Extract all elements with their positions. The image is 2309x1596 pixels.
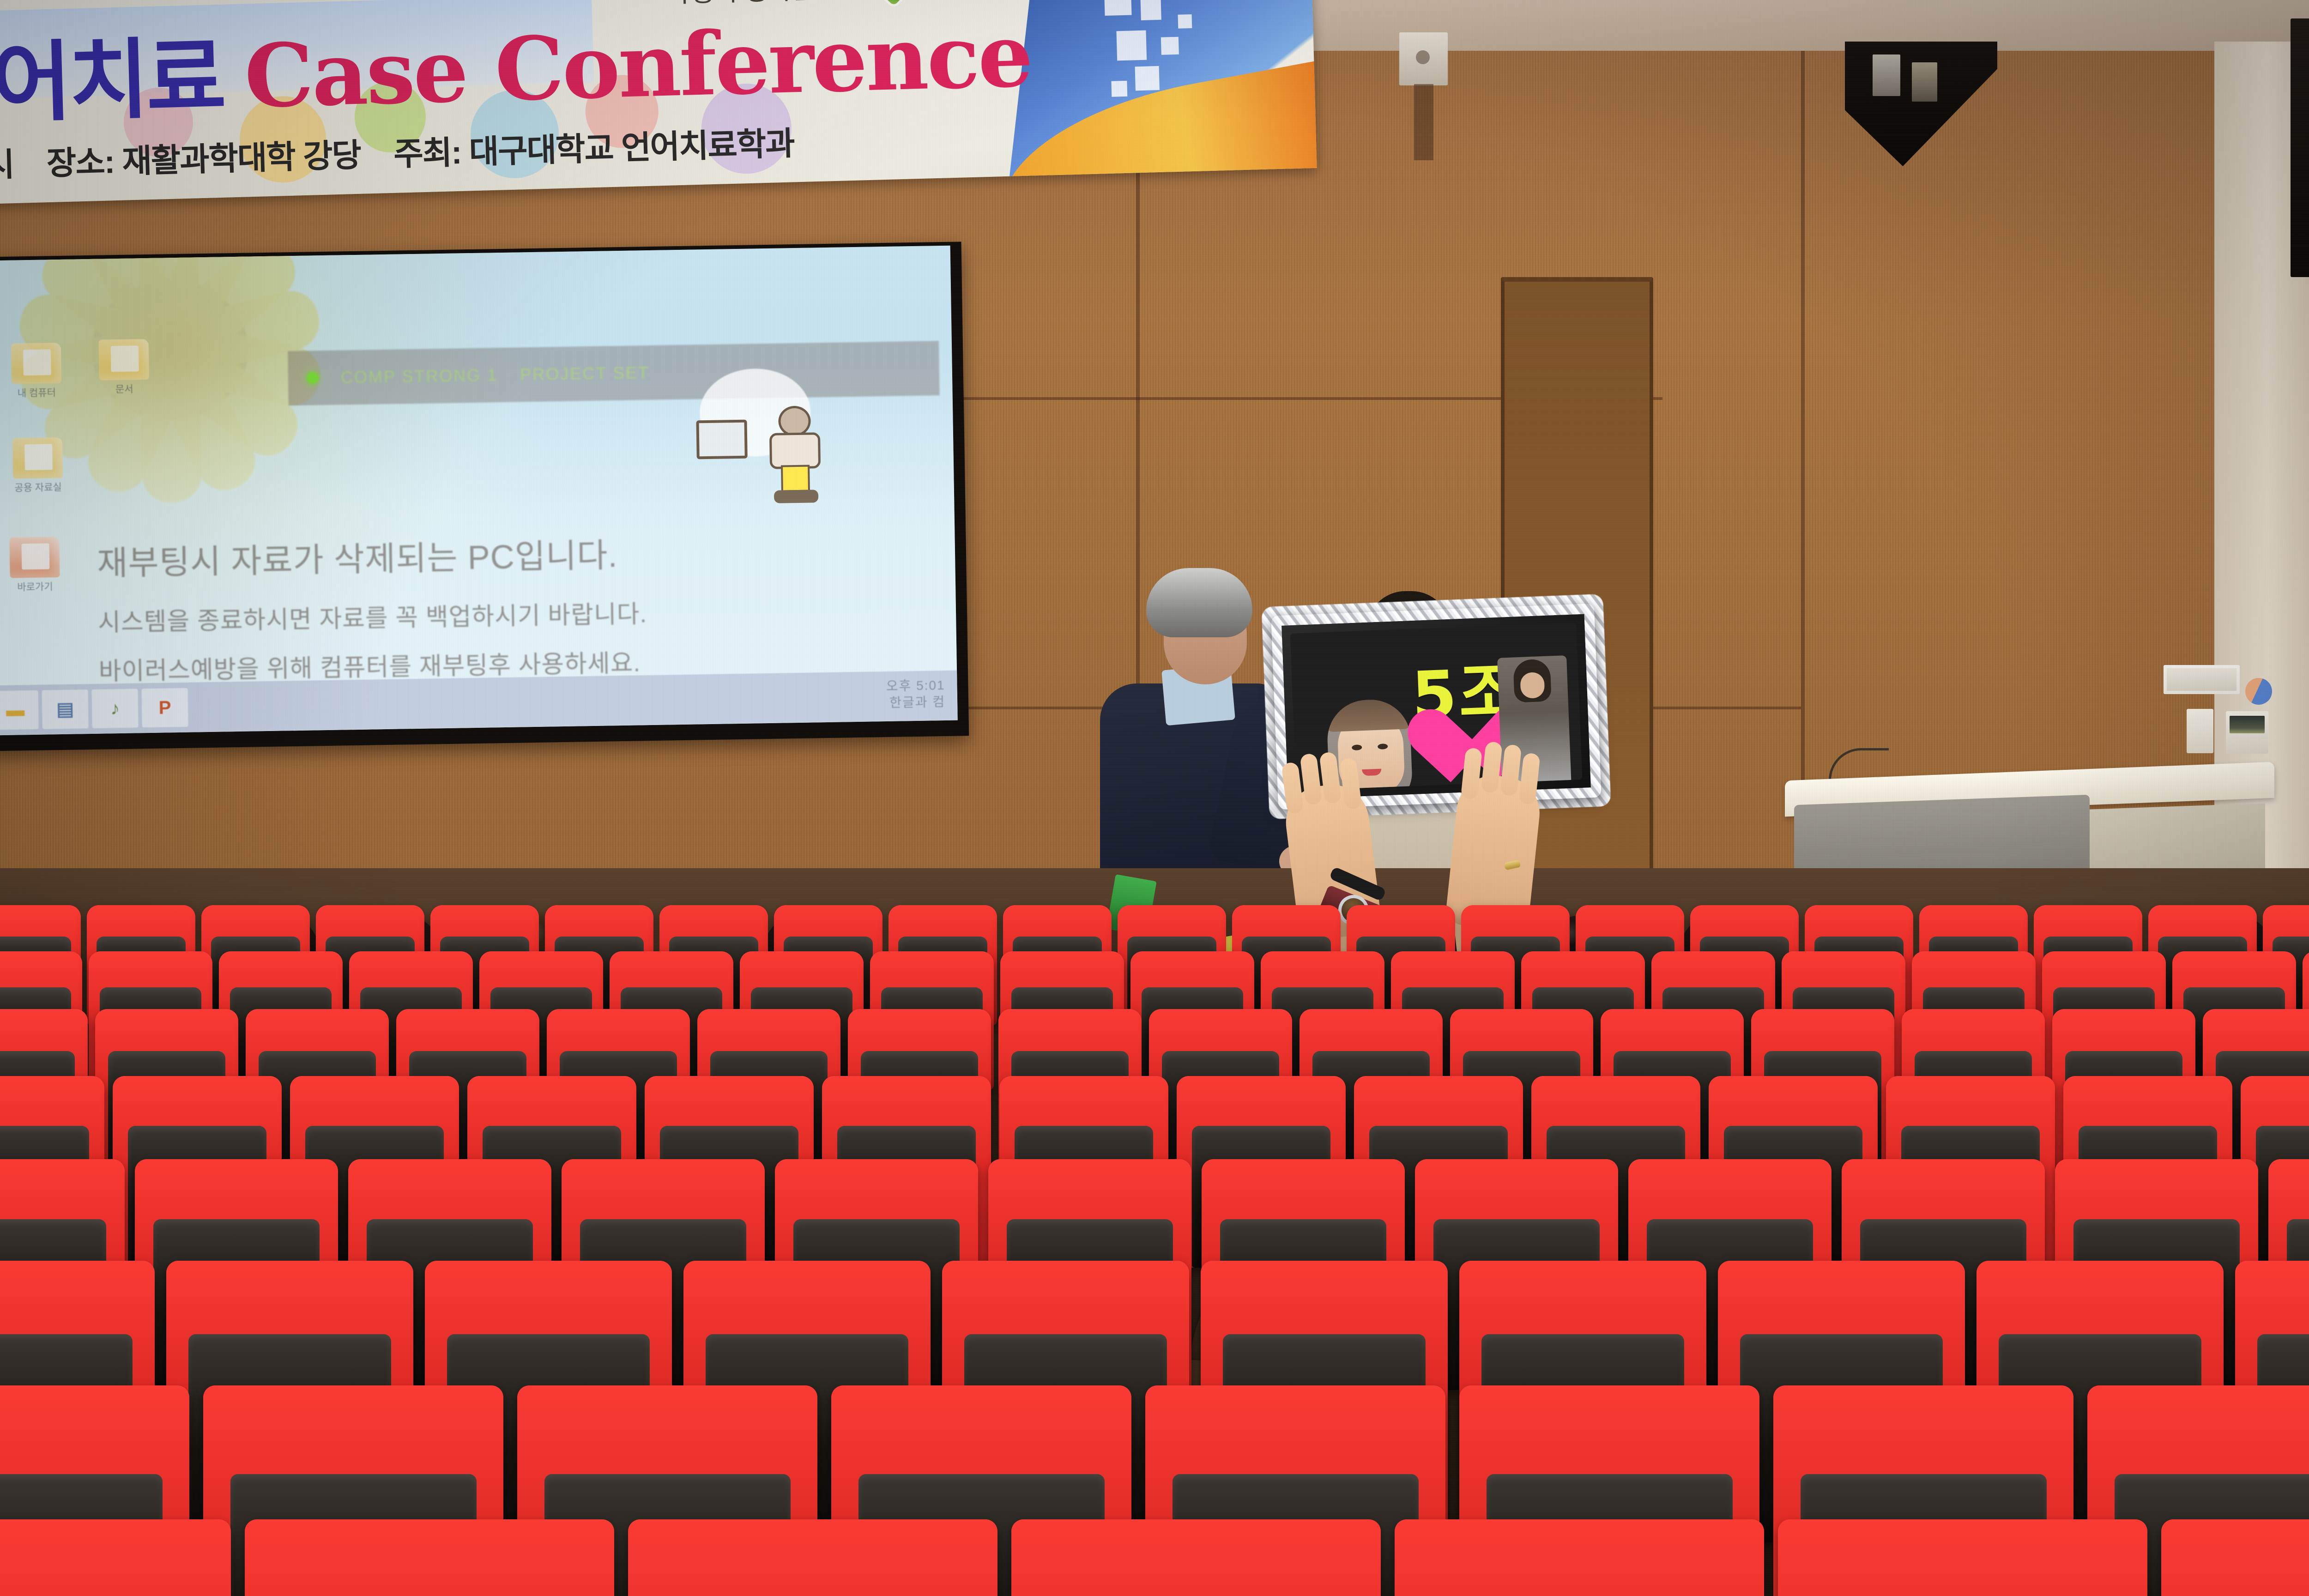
projection-surface: 내 컴퓨터 문서 공용 자료실 바로가기 COMP STRONG 1 PROJE… [0, 246, 958, 736]
pc-clipart-icon [695, 363, 849, 503]
tray-clock: 오후 5:01 [886, 677, 945, 695]
osd-mode: PROJECT SET [520, 363, 650, 384]
subtitle-host: 주최: 대구대학교 언어치료학과 [393, 125, 794, 172]
system-tray[interactable]: 오후 5:01 한글과 컴 [886, 677, 945, 712]
subtitle-place: 장소: 재활과학대학 강당 [46, 137, 361, 181]
desktop-icon-label: 내 컴퓨터 [2, 387, 71, 400]
speaker-label [1873, 54, 1900, 96]
title-english: Case Conference [243, 4, 1033, 127]
notice-line-2: 시스템을 종료하시면 자료를 꼭 백업하시기 바랍니다. [98, 592, 828, 638]
auditorium-seat[interactable] [1011, 1519, 1381, 1596]
auditorium-seat[interactable] [245, 1519, 614, 1596]
folder-icon [12, 437, 63, 479]
auditorium-scene: 학생이 행복한 대학 대구대학교 언어치료 Case Conference 후 … [0, 0, 2309, 1596]
auditorium-seat[interactable] [2161, 1519, 2309, 1596]
auditorium-seat[interactable] [1778, 1519, 2147, 1596]
osd-source: COMP STRONG 1 [341, 365, 498, 387]
decorative-ball-icon [2245, 678, 2272, 705]
auditorium-seat[interactable] [1395, 1519, 1764, 1596]
projection-screen: 내 컴퓨터 문서 공용 자료실 바로가기 COMP STRONG 1 PROJE… [0, 242, 969, 751]
wall-sensor-icon [1399, 32, 1448, 85]
media-icon[interactable]: ♪ [91, 689, 138, 728]
document-icon[interactable]: ▤ [42, 689, 88, 729]
folder-icon [11, 343, 61, 384]
folder-icon [99, 339, 149, 381]
thermostat-lcd [2230, 716, 2265, 733]
thermostat[interactable] [2226, 711, 2268, 754]
student-face-photo [1326, 698, 1413, 791]
light-switch[interactable] [2187, 709, 2213, 753]
tray-date: 한글과 컴 [886, 694, 945, 711]
wall-sensor-stem [1414, 84, 1433, 160]
desktop-icon[interactable]: 문서 [89, 339, 159, 397]
desktop-icon[interactable]: 내 컴퓨터 [1, 343, 72, 400]
auditorium-seat[interactable] [628, 1519, 997, 1596]
title-korean: 언어치료 [0, 29, 224, 134]
power-indicator-icon [307, 372, 319, 384]
desktop-icon-label: 바로가기 [0, 581, 70, 594]
desktop-icon-label: 공용 자료실 [3, 482, 73, 495]
ceiling-speaker-icon [2291, 18, 2309, 277]
speaker-label [1912, 62, 1937, 102]
desktop-icon[interactable]: 바로가기 [0, 537, 70, 594]
air-duct-vent-icon [2164, 665, 2240, 694]
desktop-icon-label: 문서 [90, 383, 159, 397]
desktop-icon[interactable]: 공용 자료실 [3, 437, 73, 495]
subtitle-time: 후 5시 [0, 146, 14, 185]
banner-squares [1104, 0, 1260, 104]
team-placard[interactable]: 5조 [1271, 604, 1602, 810]
placard-board: 5조 [1271, 604, 1602, 810]
auditorium-seat[interactable] [0, 1519, 231, 1596]
shortcut-icon [9, 537, 60, 578]
folder-icon[interactable]: ▬ [0, 690, 39, 730]
powerpoint-icon[interactable]: P [141, 688, 188, 728]
